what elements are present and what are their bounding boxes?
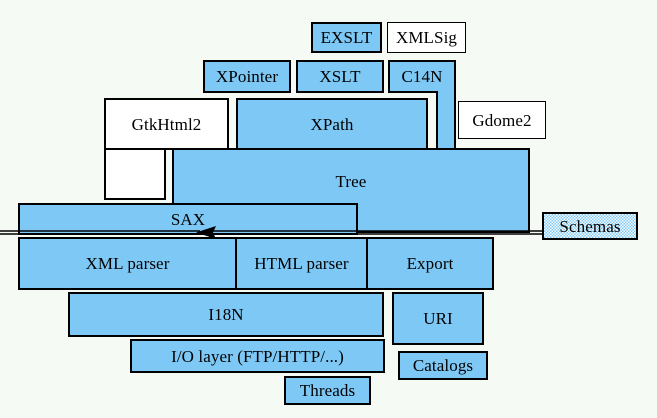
node-io-layer-label: I/O layer (FTP/HTTP/...) [171, 348, 344, 365]
node-xpath-label: XPath [311, 116, 354, 133]
node-threads-label: Threads [300, 382, 355, 399]
node-xmlsig: XMLSig [387, 22, 466, 53]
node-exslt-label: EXSLT [321, 29, 373, 46]
node-xmlsig-label: XMLSig [396, 29, 457, 46]
node-xpointer-label: XPointer [216, 68, 278, 85]
node-xpointer: XPointer [203, 60, 291, 93]
node-gtkhtml2-head: GtkHtml2 [104, 98, 229, 150]
architecture-diagram: EXSLT XMLSig XPointer XSLT C14N GtkHtml2… [0, 0, 657, 418]
node-gtkhtml2-head-label: GtkHtml2 [132, 116, 202, 133]
node-xml-parser: XML parser [18, 237, 237, 290]
node-threads: Threads [284, 376, 371, 405]
node-xslt-label: XSLT [319, 68, 360, 85]
node-schemas-label: Schemas [559, 218, 620, 235]
node-c14n: C14N [388, 60, 456, 93]
node-i18n: I18N [68, 292, 384, 337]
node-io-layer: I/O layer (FTP/HTTP/...) [130, 339, 385, 373]
node-exslt: EXSLT [311, 22, 382, 53]
node-gdome2: Gdome2 [458, 101, 546, 139]
node-xslt: XSLT [296, 60, 384, 93]
node-export: Export [366, 237, 494, 290]
node-uri-label: URI [423, 310, 453, 327]
node-catalogs-label: Catalogs [413, 357, 473, 374]
node-tree-label: Tree [174, 173, 528, 190]
node-uri: URI [392, 292, 484, 345]
node-html-parser: HTML parser [235, 237, 368, 290]
node-sax: SAX [18, 203, 358, 235]
node-gdome2-label: Gdome2 [472, 112, 531, 129]
node-i18n-label: I18N [208, 306, 243, 323]
connector-c14n-to-tree [436, 91, 456, 154]
node-schemas: Schemas [542, 212, 638, 240]
node-html-parser-label: HTML parser [254, 255, 348, 272]
node-xpath: XPath [236, 98, 428, 150]
node-export-label: Export [407, 255, 454, 272]
node-xml-parser-label: XML parser [86, 255, 170, 272]
node-sax-label: SAX [171, 211, 205, 228]
node-c14n-label: C14N [401, 68, 442, 85]
node-catalogs: Catalogs [398, 351, 488, 380]
